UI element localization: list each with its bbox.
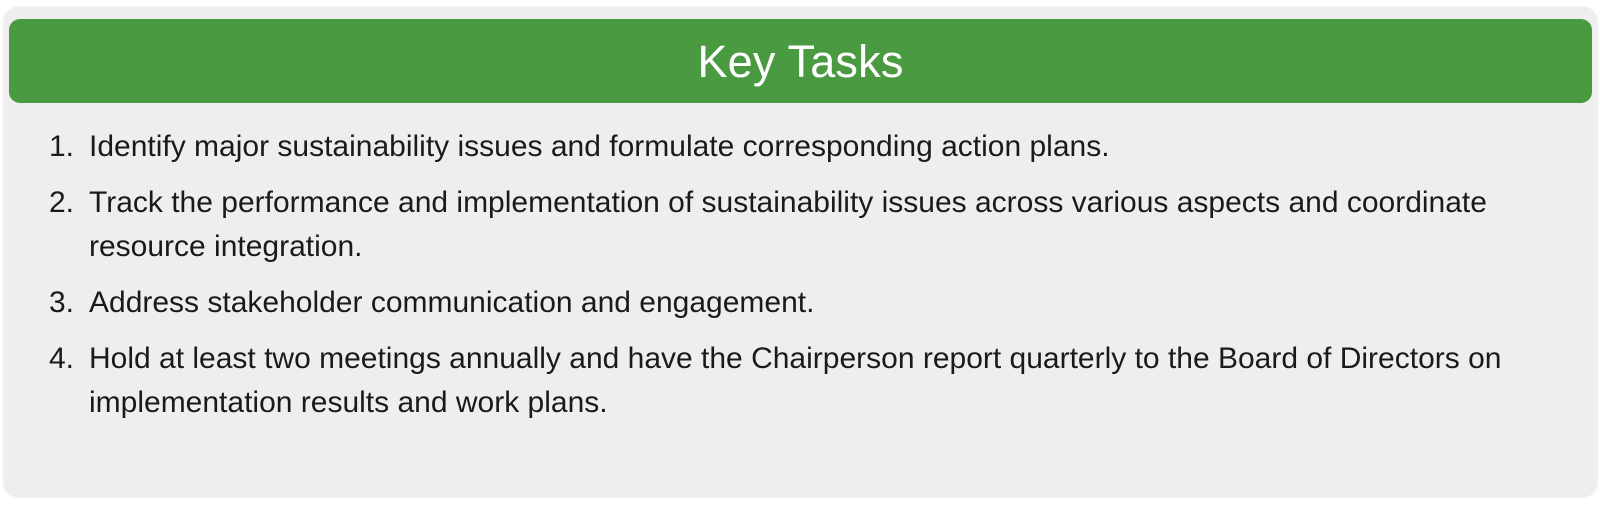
list-item: 1. Identify major sustainability issues … [4, 125, 1597, 169]
card-header-banner: Key Tasks [9, 19, 1592, 103]
list-item-text: Hold at least two meetings annually and … [89, 337, 1509, 425]
list-item-text: Identify major sustainability issues and… [89, 125, 1509, 169]
list-item-text: Address stakeholder communication and en… [89, 281, 1509, 325]
list-item-number: 2. [49, 181, 89, 225]
list-item: 4. Hold at least two meetings annually a… [4, 337, 1597, 425]
page-title: Key Tasks [697, 39, 903, 84]
list-item-text: Track the performance and implementation… [89, 181, 1509, 269]
list-item: 3. Address stakeholder communication and… [4, 281, 1597, 325]
list-item-number: 4. [49, 337, 89, 381]
list-item-number: 3. [49, 281, 89, 325]
list-item-number: 1. [49, 125, 89, 169]
key-tasks-card: Key Tasks 1. Identify major sustainabili… [4, 7, 1597, 496]
task-list: 1. Identify major sustainability issues … [4, 125, 1597, 437]
list-item: 2. Track the performance and implementat… [4, 181, 1597, 269]
